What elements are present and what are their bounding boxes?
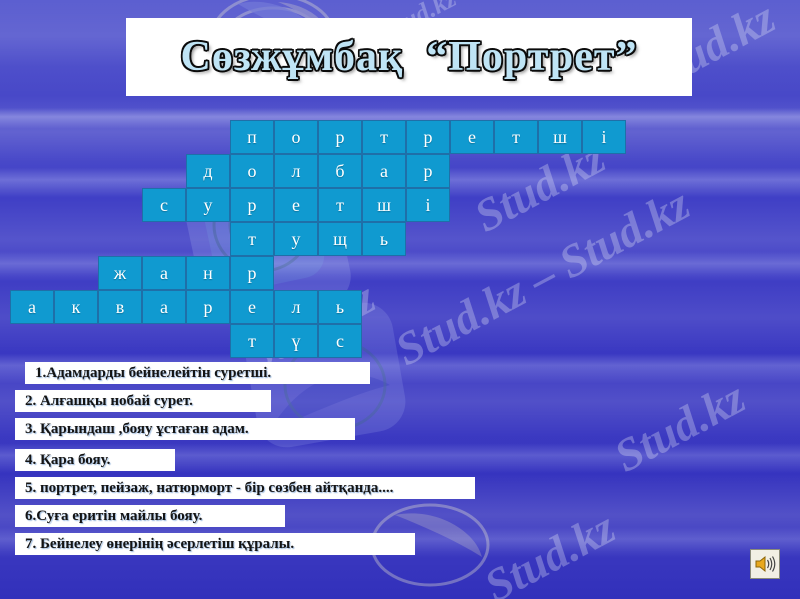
crossword-cell[interactable]: у <box>186 188 230 222</box>
clue-item: 7. Бейнелеу өнерінің әсерлетіш құралы. <box>15 533 415 555</box>
crossword-cell[interactable]: л <box>274 290 318 324</box>
crossword-cell[interactable]: е <box>274 188 318 222</box>
crossword-cell[interactable]: с <box>142 188 186 222</box>
clue-item: 4. Қара бояу. <box>15 449 175 471</box>
crossword-cell[interactable]: ь <box>318 290 362 324</box>
crossword-cell[interactable]: т <box>362 120 406 154</box>
page-title: Сөзжұмбақ “Портрет” <box>126 18 692 96</box>
crossword-cell[interactable]: р <box>230 256 274 290</box>
crossword-cell[interactable]: т <box>494 120 538 154</box>
crossword-cell[interactable]: а <box>142 290 186 324</box>
crossword-cell[interactable]: п <box>230 120 274 154</box>
crossword-cell[interactable]: ж <box>98 256 142 290</box>
crossword-cell[interactable]: а <box>10 290 54 324</box>
crossword-cell[interactable]: а <box>142 256 186 290</box>
crossword-cell[interactable]: і <box>582 120 626 154</box>
crossword-cell[interactable]: т <box>318 188 362 222</box>
crossword-cell[interactable]: о <box>274 120 318 154</box>
crossword-cell[interactable]: е <box>230 290 274 324</box>
clue-item: 2. Алғашқы нобай сурет. <box>15 390 271 412</box>
crossword-cell[interactable]: с <box>318 324 362 358</box>
watermark-text: Stud.kz <box>476 500 624 599</box>
clue-item: 6.Суға еритін майлы бояу. <box>15 505 285 527</box>
clue-item: 1.Адамдарды бейнелейтін суретші. <box>25 362 370 384</box>
crossword-cell[interactable]: ү <box>274 324 318 358</box>
crossword-cell[interactable]: б <box>318 154 362 188</box>
crossword-cell[interactable]: р <box>406 154 450 188</box>
crossword-cell[interactable]: л <box>274 154 318 188</box>
crossword-cell[interactable]: р <box>318 120 362 154</box>
crossword-cell[interactable]: в <box>98 290 142 324</box>
crossword-cell[interactable]: е <box>450 120 494 154</box>
crossword-cell[interactable]: ш <box>538 120 582 154</box>
presentation-slide: Stud.kz Stud.kz Stud.kz Stud.kz – Stud.k… <box>0 0 800 599</box>
crossword-cell[interactable]: і <box>406 188 450 222</box>
crossword-cell[interactable]: т <box>230 222 274 256</box>
crossword-cell[interactable]: т <box>230 324 274 358</box>
crossword-cell[interactable]: ш <box>362 188 406 222</box>
crossword-cell[interactable]: р <box>186 290 230 324</box>
crossword-cell[interactable]: а <box>362 154 406 188</box>
crossword-cell[interactable]: р <box>230 188 274 222</box>
crossword-cell[interactable]: о <box>230 154 274 188</box>
clue-item: 5. портрет, пейзаж, натюрморт - бір сөзб… <box>15 477 475 499</box>
crossword-cell[interactable]: щ <box>318 222 362 256</box>
speaker-button[interactable] <box>750 549 780 579</box>
speaker-icon <box>754 555 776 573</box>
crossword-cell[interactable]: ь <box>362 222 406 256</box>
crossword-cell[interactable]: н <box>186 256 230 290</box>
crossword-cell[interactable]: у <box>274 222 318 256</box>
crossword-cell[interactable]: к <box>54 290 98 324</box>
watermark-text: Stud.kz <box>606 370 754 482</box>
crossword-cell[interactable]: д <box>186 154 230 188</box>
crossword-cell[interactable]: р <box>406 120 450 154</box>
clue-item: 3. Қарындаш ,бояу ұстаған адам. <box>15 418 355 440</box>
